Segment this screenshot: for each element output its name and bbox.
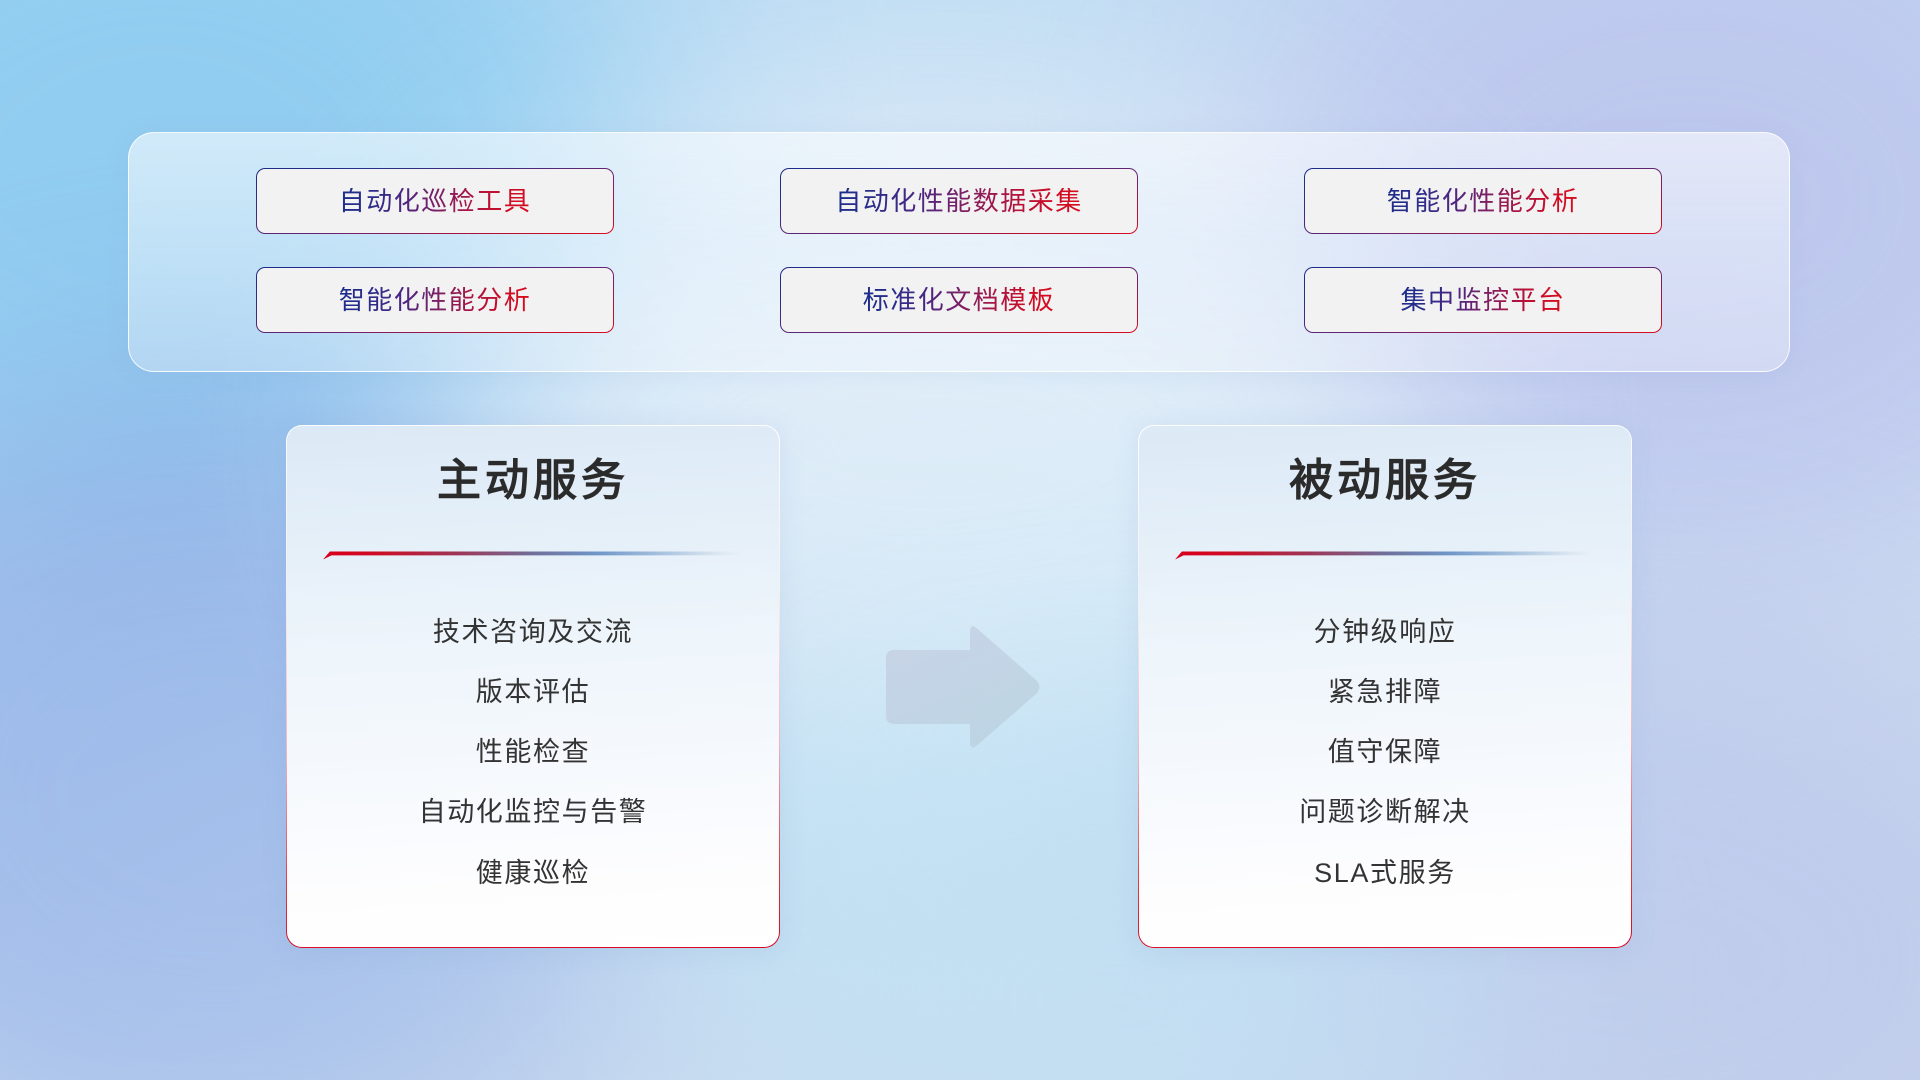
slide-canvas: 自动化巡检工具 自动化性能数据采集 智能化性能分析 智能化性能分析 标准化文档模… [0,0,1920,1080]
card-divider-accent [323,549,755,562]
capability-tag-label: 自动化巡检工具 [339,188,532,214]
capability-tag-label: 智能化性能分析 [339,287,532,313]
list-item: 健康巡检 [476,857,590,889]
service-card-passive[interactable]: 被动服务 [1138,425,1632,948]
list-item: 分钟级响应 [1314,616,1457,648]
card-item-list: 技术咨询及交流 版本评估 性能检查 自动化监控与告警 健康巡检 [287,588,779,917]
card-divider-accent [1175,549,1607,562]
capability-tag[interactable]: 自动化性能数据采集 [780,168,1138,234]
list-item: 问题诊断解决 [1299,796,1471,828]
card-title: 被动服务 [1139,455,1631,507]
card-title: 主动服务 [287,455,779,507]
arrow-right-icon [878,622,1042,752]
capability-tag[interactable]: 标准化文档模板 [780,267,1138,333]
card-item-list: 分钟级响应 紧急排障 值守保障 问题诊断解决 SLA式服务 [1139,588,1631,917]
capability-tag[interactable]: 智能化性能分析 [256,267,614,333]
list-item: 自动化监控与告警 [419,796,648,828]
capability-tag[interactable]: 智能化性能分析 [1304,168,1662,234]
list-item: 性能检查 [476,736,590,768]
capability-tag[interactable]: 自动化巡检工具 [256,168,614,234]
capability-tag-label: 集中监控平台 [1400,287,1565,313]
capability-tag-panel: 自动化巡检工具 自动化性能数据采集 智能化性能分析 智能化性能分析 标准化文档模… [128,132,1790,372]
capability-tag-label: 标准化文档模板 [863,287,1056,313]
capability-tag[interactable]: 集中监控平台 [1304,267,1662,333]
capability-tag-label: 自动化性能数据采集 [835,188,1083,214]
list-item: 值守保障 [1328,736,1442,768]
service-card-active[interactable]: 主动服务 [286,425,780,948]
list-item: SLA式服务 [1314,857,1456,889]
list-item: 技术咨询及交流 [433,616,633,648]
list-item: 版本评估 [476,676,590,708]
capability-tag-label: 智能化性能分析 [1387,188,1580,214]
list-item: 紧急排障 [1328,676,1442,708]
